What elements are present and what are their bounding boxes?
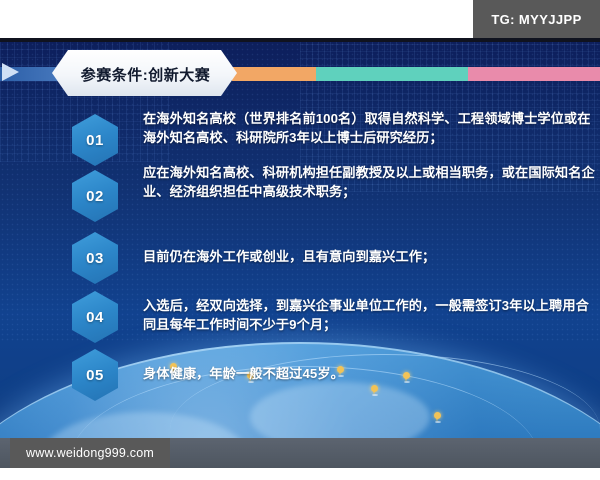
item-text: 身体健康，年龄一般不超过45岁。 (143, 364, 595, 383)
site-watermark: www.weidong999.com (10, 438, 170, 468)
item-number-badge: 01 (72, 114, 118, 166)
item-number-label: 04 (86, 309, 104, 326)
item-number-label: 03 (86, 250, 104, 267)
presentation-slide: 参赛条件:创新大赛 01 在海外知名高校（世界排名前100名）取得自然科学、工程… (0, 42, 600, 480)
bottom-white-band (0, 468, 600, 480)
item-text: 应在海外知名高校、科研机构担任副教授及以上或相当职务，或在国际知名企业、经济组织… (143, 163, 595, 201)
item-text: 在海外知名高校（世界排名前100名）取得自然科学、工程领域博士学位或在海外知名高… (143, 109, 595, 147)
item-text: 入选后，经双向选择，到嘉兴企事业单位工作的，一般需签订3年以上聘用合同且每年工作… (143, 296, 595, 334)
item-number-label: 02 (86, 188, 104, 205)
item-number-badge: 04 (72, 291, 118, 343)
conditions-list: 01 在海外知名高校（世界排名前100名）取得自然科学、工程领域博士学位或在海外… (0, 42, 600, 480)
item-number-badge: 05 (72, 349, 118, 401)
tg-handle-badge: TG: MYYJJPP (473, 0, 600, 38)
item-number-label: 01 (86, 132, 104, 149)
item-number-badge: 03 (72, 232, 118, 284)
item-text: 目前仍在海外工作或创业，且有意向到嘉兴工作； (143, 247, 595, 266)
item-number-badge: 02 (72, 170, 118, 222)
top-white-band: TG: MYYJJPP (0, 0, 600, 38)
item-number-label: 05 (86, 367, 104, 384)
